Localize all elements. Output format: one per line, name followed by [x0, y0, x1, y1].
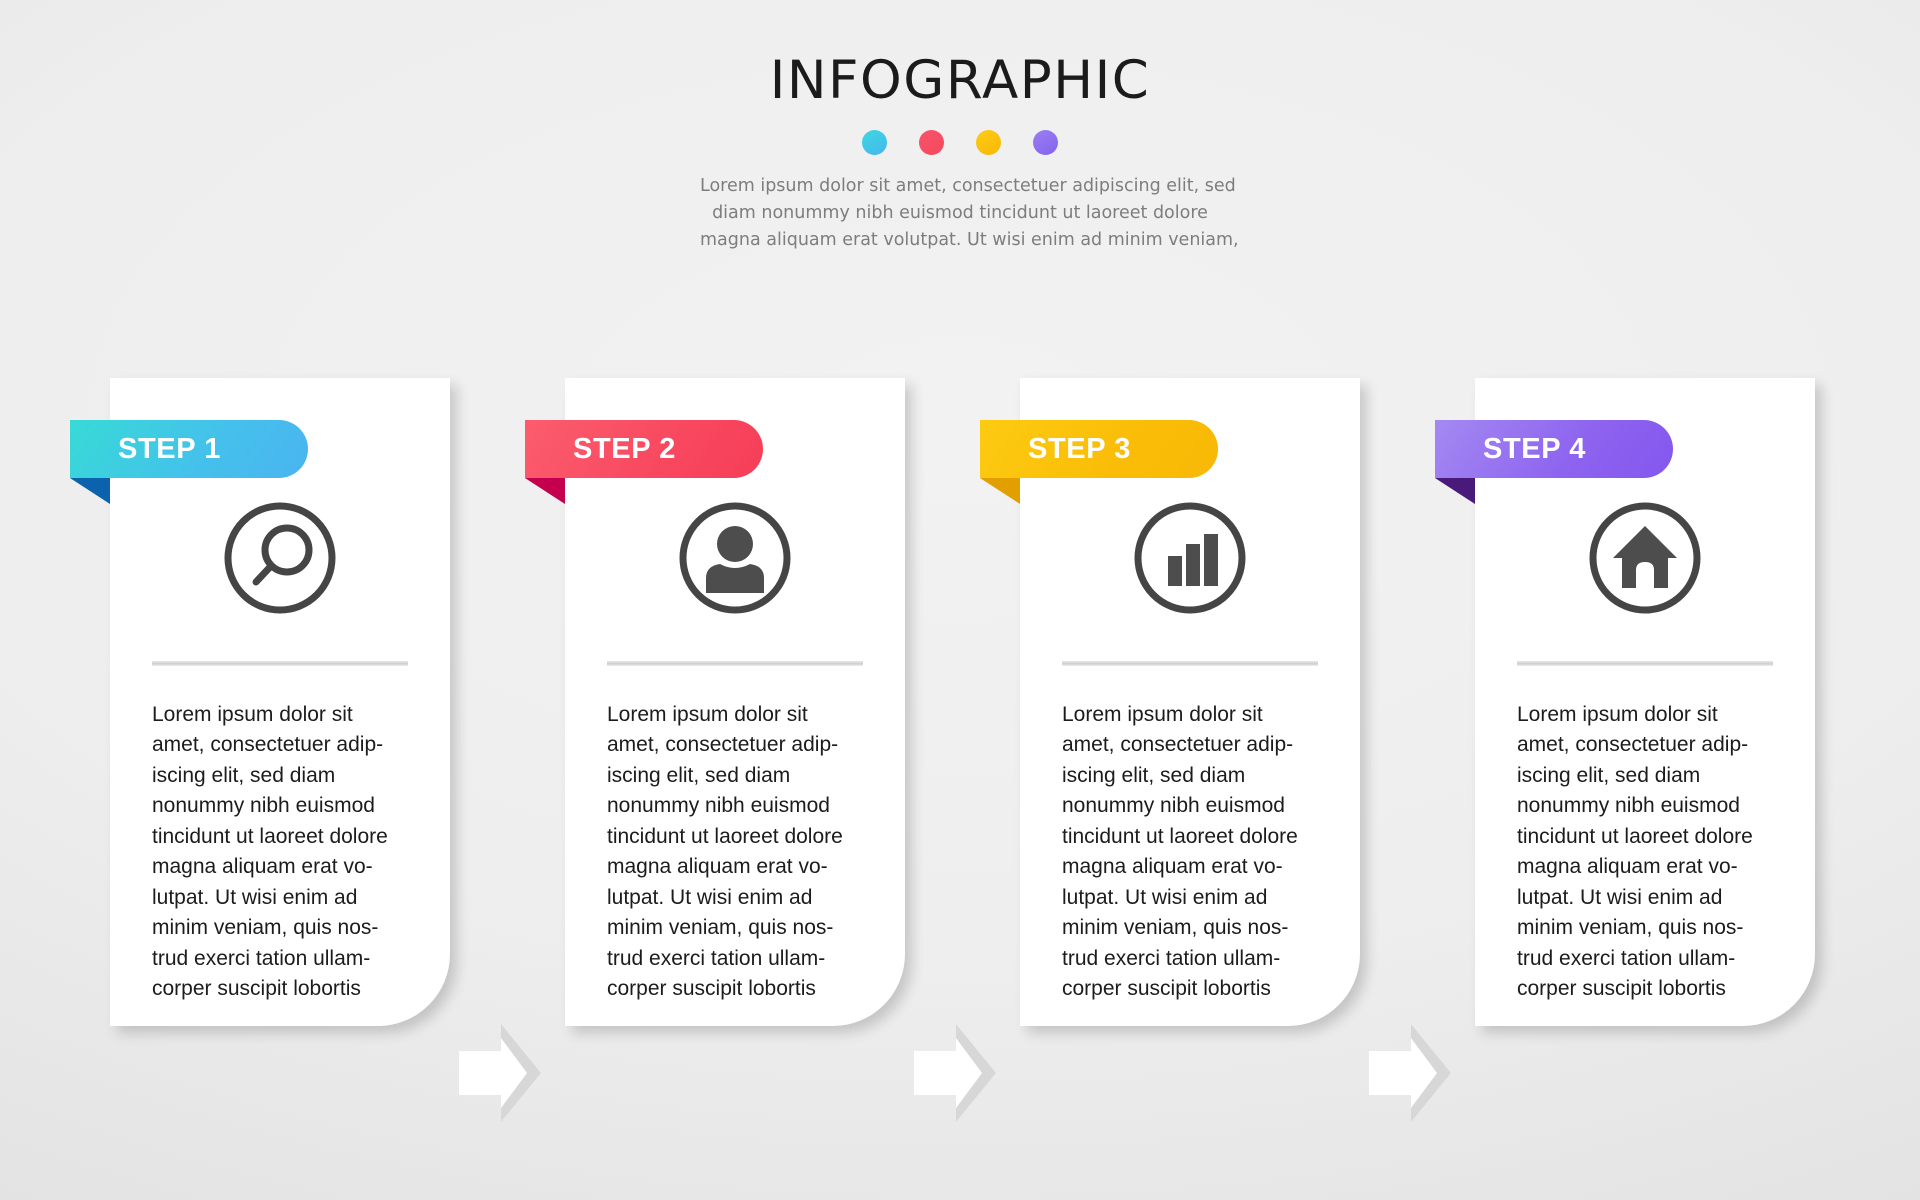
- arrow-step1-to-step2-icon: [455, 1018, 545, 1128]
- step-icon-wrap-3: [1020, 498, 1360, 618]
- body-line: iscing elit, sed diam: [152, 761, 408, 791]
- search-icon: [220, 498, 340, 618]
- header-subtitle: Lorem ipsum dolor sit amet, consectetuer…: [700, 173, 1220, 253]
- body-line: corper suscipit lobortis: [152, 974, 408, 1004]
- body-line: amet, consectetuer adip-: [152, 730, 408, 760]
- body-line: amet, consectetuer adip-: [607, 730, 863, 760]
- body-line: nonummy nibh euismod: [607, 791, 863, 821]
- body-line: nonummy nibh euismod: [1517, 791, 1773, 821]
- body-line: minim veniam, quis nos-: [152, 913, 408, 943]
- subtitle-line: diam nonummy nibh euismod tincidunt ut l…: [700, 200, 1220, 227]
- subtitle-line: Lorem ipsum dolor sit amet, consectetuer…: [700, 173, 1220, 200]
- home-icon: [1585, 498, 1705, 618]
- body-line: magna aliquam erat vo-: [607, 852, 863, 882]
- step-badge-1[interactable]: STEP 1: [70, 420, 308, 478]
- body-line: magna aliquam erat vo-: [1062, 852, 1318, 882]
- body-line: corper suscipit lobortis: [607, 974, 863, 1004]
- body-line: amet, consectetuer adip-: [1517, 730, 1773, 760]
- step-body-4: Lorem ipsum dolor sit amet, consectetuer…: [1517, 700, 1773, 1004]
- infographic-header: INFOGRAPHIC Lorem ipsum dolor sit amet, …: [0, 0, 1920, 254]
- arrow-step3-to-step4-icon: [1365, 1018, 1455, 1128]
- step-body-1: Lorem ipsum dolor sit amet, consectetuer…: [152, 700, 408, 1004]
- body-line: lutpat. Ut wisi enim ad: [1062, 883, 1318, 913]
- person-icon: [675, 498, 795, 618]
- body-line: tincidunt ut laoreet dolore: [1062, 822, 1318, 852]
- step-icon-wrap-4: [1475, 498, 1815, 618]
- step-card-4[interactable]: STEP 4 Lorem ipsum dolor sit amet, conse…: [1475, 378, 1815, 1028]
- body-line: corper suscipit lobortis: [1062, 974, 1318, 1004]
- badge-fold: [70, 478, 110, 504]
- arrow-step2-to-step3-icon: [910, 1018, 1000, 1128]
- body-line: lutpat. Ut wisi enim ad: [152, 883, 408, 913]
- body-line: tincidunt ut laoreet dolore: [1517, 822, 1773, 852]
- step-badge-3[interactable]: STEP 3: [980, 420, 1218, 478]
- badge-fold: [525, 478, 565, 504]
- badge-fold: [1435, 478, 1475, 504]
- dot-yellow-icon: [976, 130, 1001, 155]
- dot-red-icon: [919, 130, 944, 155]
- body-line: minim veniam, quis nos-: [607, 913, 863, 943]
- page-title: INFOGRAPHIC: [0, 52, 1920, 110]
- step-card-3[interactable]: STEP 3 Lorem ipsum dolor sit amet, conse…: [1020, 378, 1360, 1028]
- step-card-2[interactable]: STEP 2 Lorem ipsum dolor sit amet, conse…: [565, 378, 905, 1028]
- body-line: trud exerci tation ullam-: [607, 944, 863, 974]
- body-line: Lorem ipsum dolor sit: [152, 700, 408, 730]
- body-line: iscing elit, sed diam: [1517, 761, 1773, 791]
- body-line: trud exerci tation ullam-: [1517, 944, 1773, 974]
- step-icon-wrap-2: [565, 498, 905, 618]
- dot-purple-icon: [1033, 130, 1058, 155]
- body-line: magna aliquam erat vo-: [1517, 852, 1773, 882]
- body-line: lutpat. Ut wisi enim ad: [607, 883, 863, 913]
- body-line: trud exerci tation ullam-: [152, 944, 408, 974]
- body-line: tincidunt ut laoreet dolore: [152, 822, 408, 852]
- body-line: Lorem ipsum dolor sit: [607, 700, 863, 730]
- card-divider: [1517, 661, 1773, 666]
- body-line: minim veniam, quis nos-: [1062, 913, 1318, 943]
- step-body-3: Lorem ipsum dolor sit amet, consectetuer…: [1062, 700, 1318, 1004]
- subtitle-line: magna aliquam erat volutpat. Ut wisi eni…: [700, 227, 1220, 254]
- color-dot-row: [0, 130, 1920, 155]
- body-line: magna aliquam erat vo-: [152, 852, 408, 882]
- body-line: nonummy nibh euismod: [1062, 791, 1318, 821]
- dot-cyan-icon: [862, 130, 887, 155]
- body-line: lutpat. Ut wisi enim ad: [1517, 883, 1773, 913]
- step-badge-4[interactable]: STEP 4: [1435, 420, 1673, 478]
- steps-container: STEP 1 Lorem ipsum dolor sit amet, conse…: [0, 378, 1920, 1058]
- body-line: minim veniam, quis nos-: [1517, 913, 1773, 943]
- step-icon-wrap-1: [110, 498, 450, 618]
- body-line: Lorem ipsum dolor sit: [1062, 700, 1318, 730]
- step-badge-2[interactable]: STEP 2: [525, 420, 763, 478]
- card-divider: [152, 661, 408, 666]
- body-line: tincidunt ut laoreet dolore: [607, 822, 863, 852]
- card-divider: [607, 661, 863, 666]
- body-line: amet, consectetuer adip-: [1062, 730, 1318, 760]
- body-line: trud exerci tation ullam-: [1062, 944, 1318, 974]
- card-divider: [1062, 661, 1318, 666]
- body-line: corper suscipit lobortis: [1517, 974, 1773, 1004]
- body-line: iscing elit, sed diam: [607, 761, 863, 791]
- body-line: iscing elit, sed diam: [1062, 761, 1318, 791]
- step-body-2: Lorem ipsum dolor sit amet, consectetuer…: [607, 700, 863, 1004]
- step-card-1[interactable]: STEP 1 Lorem ipsum dolor sit amet, conse…: [110, 378, 450, 1028]
- body-line: Lorem ipsum dolor sit: [1517, 700, 1773, 730]
- body-line: nonummy nibh euismod: [152, 791, 408, 821]
- bar-chart-icon: [1130, 498, 1250, 618]
- badge-fold: [980, 478, 1020, 504]
